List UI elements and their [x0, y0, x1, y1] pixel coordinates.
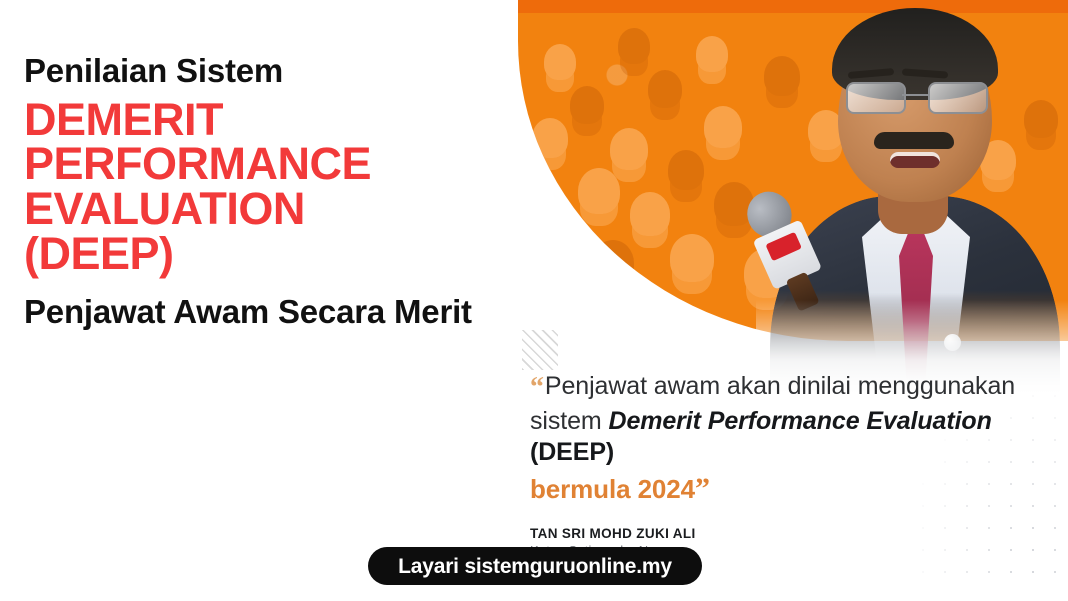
website-badge[interactable]: Layari sistemguruonline.my: [368, 547, 702, 585]
attribution-name: TAN SRI MOHD ZUKI ALI: [530, 526, 1050, 541]
hatch-decoration-icon: [522, 330, 558, 370]
headline-line-3: EVALUATION: [24, 187, 504, 232]
quote-open-mark: “: [530, 372, 544, 403]
quote-line-1: Penjawat awam akan dinilai: [545, 372, 851, 400]
eyeglasses-icon: [842, 82, 992, 112]
quote-text: “Penjawat awam akan dinilai menggunakan …: [530, 370, 1050, 508]
headline-line-1: DEMERIT: [24, 98, 504, 143]
quote-line-2-strong: Demerit: [608, 407, 700, 435]
subline-text: Penjawat Awam Secara Merit: [24, 290, 494, 334]
mouth: [890, 152, 940, 168]
quote-close-mark: ”: [695, 472, 710, 505]
photo-panel: “Penjawat awam akan dinilai menggunakan …: [518, 0, 1068, 601]
quote-line-3-strong: Performance Evaluation: [708, 407, 992, 435]
poster-root: Penilaian Sistem DEMERIT PERFORMANCE EVA…: [0, 0, 1068, 601]
headline-line-2: PERFORMANCE: [24, 142, 504, 187]
website-badge-label: Layari sistemguruonline.my: [398, 556, 672, 577]
headline-line-4: (DEEP): [24, 232, 504, 277]
quote-block: “Penjawat awam akan dinilai menggunakan …: [530, 370, 1050, 558]
mustache: [874, 132, 954, 149]
quote-line-4: bermula 2024: [530, 474, 695, 504]
left-text-column: Penilaian Sistem DEMERIT PERFORMANCE EVA…: [24, 52, 504, 334]
headline-block: DEMERIT PERFORMANCE EVALUATION (DEEP): [24, 98, 504, 276]
kicker-text: Penilaian Sistem: [24, 52, 504, 90]
speaker-portrait: [756, 0, 1068, 400]
quote-line-3-suffix: (DEEP): [530, 438, 614, 466]
quote-line-4-wrap: bermula 2024”: [530, 470, 1050, 508]
